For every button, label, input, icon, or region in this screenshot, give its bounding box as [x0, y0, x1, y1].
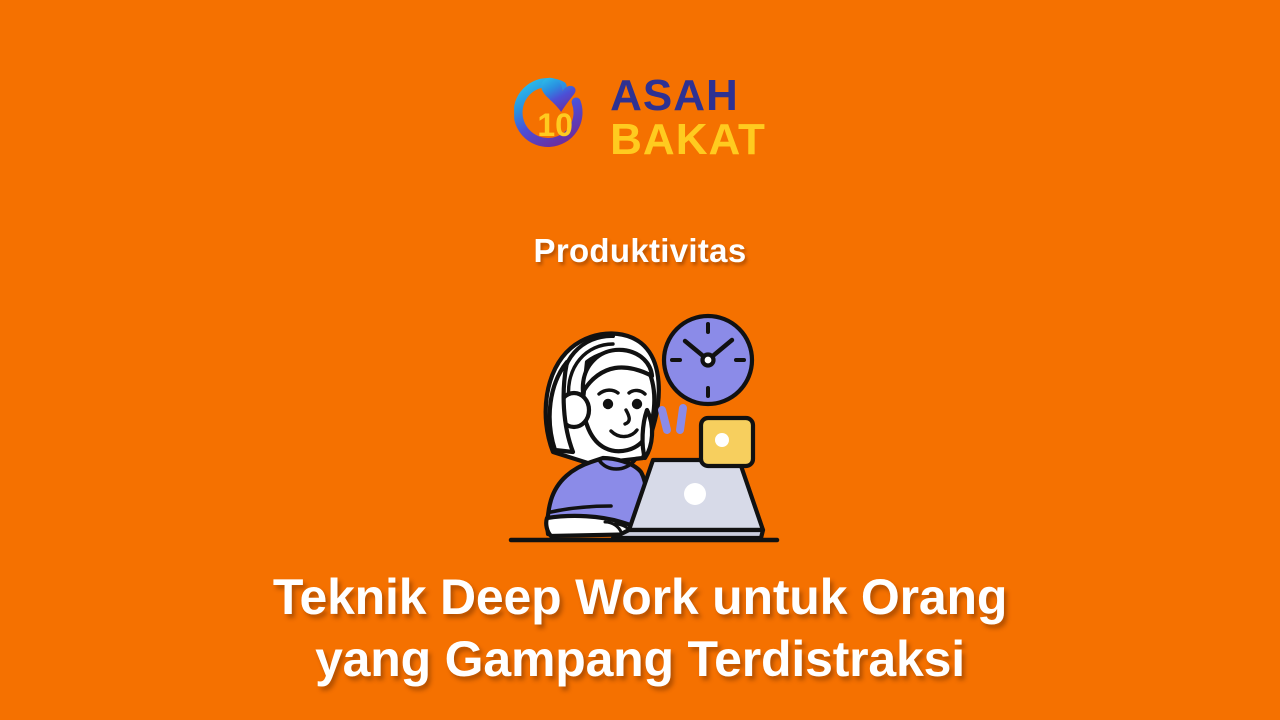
hero-illustration	[495, 300, 785, 550]
brand-word-asah: ASAH	[610, 75, 766, 117]
brand-wordmark: ASAH BAKAT	[610, 75, 766, 161]
brand-word-bakat: BAKAT	[610, 119, 766, 161]
wall-clock-icon	[664, 316, 752, 404]
poster-canvas: 10 ASAH BAKAT Produktivitas	[0, 0, 1280, 720]
category-label: Produktivitas	[0, 232, 1280, 270]
focus-dashes-icon	[662, 408, 683, 430]
sticky-note-icon	[701, 418, 753, 466]
flame-ring-logo-icon: 10	[514, 72, 596, 164]
logo-number-text: 10	[537, 107, 573, 143]
page-title: Teknik Deep Work untuk Orang yang Gampan…	[0, 566, 1280, 690]
page-title-line-1: Teknik Deep Work untuk Orang	[70, 566, 1210, 628]
brand-logo[interactable]: 10 ASAH BAKAT	[514, 72, 766, 164]
page-title-line-2: yang Gampang Terdistraksi	[70, 628, 1210, 690]
